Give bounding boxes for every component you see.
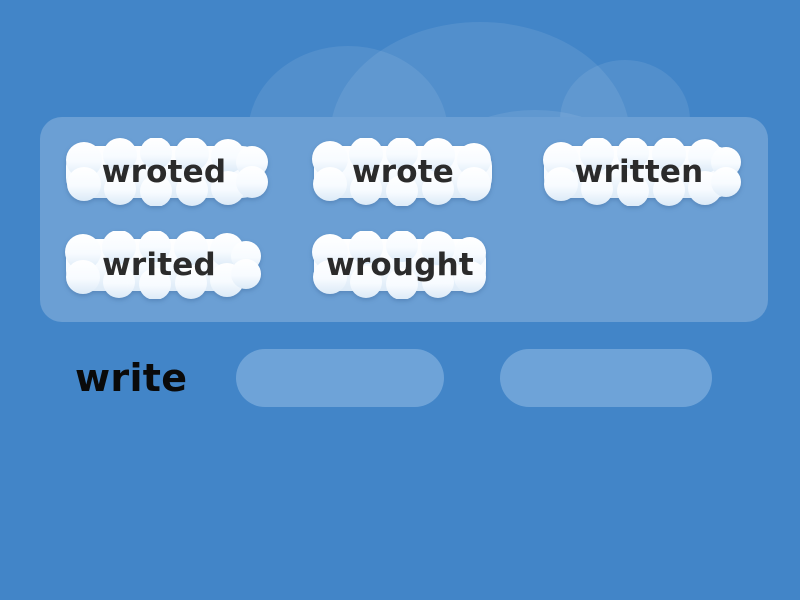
prompt-word: write xyxy=(75,342,187,414)
drop-slot[interactable] xyxy=(236,349,444,407)
word-tile[interactable]: wrote xyxy=(300,138,506,206)
word-tile[interactable]: wrought xyxy=(300,231,500,299)
word-tile[interactable]: written xyxy=(530,138,748,206)
word-tile-label: writed xyxy=(52,231,266,299)
prompt-row: write xyxy=(0,342,800,414)
word-tile[interactable]: wroted xyxy=(52,138,276,206)
word-tile[interactable]: writed xyxy=(52,231,266,299)
word-tile-label: wrought xyxy=(300,231,500,299)
game-stage: wroted xyxy=(0,0,800,600)
word-tile-label: wrote xyxy=(300,138,506,206)
drop-slot[interactable] xyxy=(500,349,712,407)
word-tile-label: wroted xyxy=(52,138,276,206)
word-tile-label: written xyxy=(530,138,748,206)
